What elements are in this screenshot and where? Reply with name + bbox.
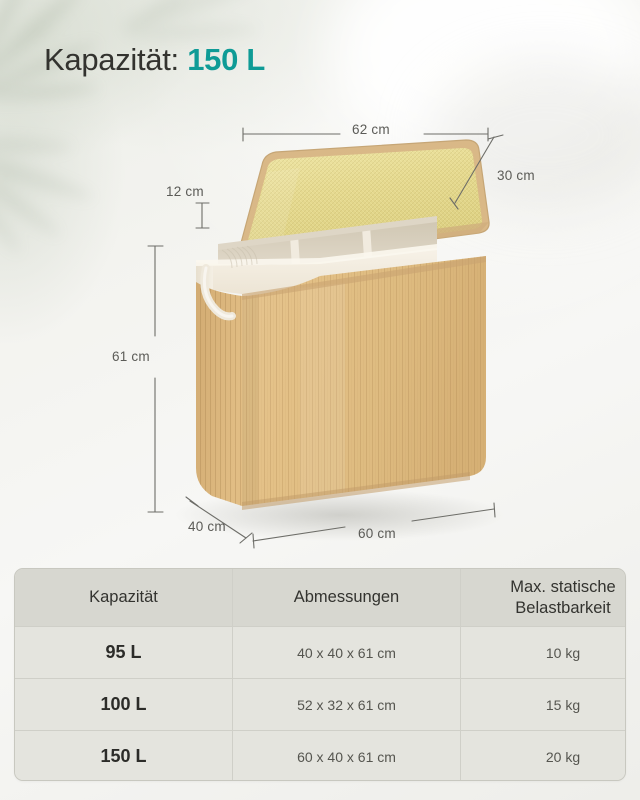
dimension-label-body-depth: 40 cm xyxy=(188,519,226,534)
cell-dimensions: 40 x 40 x 61 cm xyxy=(233,627,461,679)
dimension-label-body-height: 61 cm xyxy=(112,349,150,364)
dimension-label-body-width: 60 cm xyxy=(358,526,396,541)
hamper-lid xyxy=(238,140,489,263)
background-soft-shade xyxy=(430,60,640,210)
table-row: 150 L 60 x 40 x 61 cm 20 kg xyxy=(15,731,626,782)
page-title-capacity: 150 L xyxy=(187,42,265,77)
column-header-dimensions: Abmessungen xyxy=(233,569,461,627)
palm-frond-shadow-secondary-icon xyxy=(0,60,190,270)
hamper-body xyxy=(196,256,486,510)
column-header-capacity: Kapazität xyxy=(15,569,233,627)
column-header-max-load: Max. statische Belastbarkeit xyxy=(461,569,627,627)
dimension-label-lid-width: 62 cm xyxy=(352,122,390,137)
palm-frond-shadow-icon xyxy=(0,0,220,200)
table-row: 100 L 52 x 32 x 61 cm 15 kg xyxy=(15,679,626,731)
page-title: Kapazität: 150 L xyxy=(44,42,265,78)
cell-dimensions: 60 x 40 x 61 cm xyxy=(233,731,461,782)
cell-capacity: 150 L xyxy=(15,731,233,782)
cell-capacity: 100 L xyxy=(15,679,233,731)
cell-max-load: 20 kg xyxy=(461,731,627,782)
cell-capacity: 95 L xyxy=(15,627,233,679)
column-header-max-load-line1: Max. statische xyxy=(467,577,626,598)
infographic-page: Kapazität: 150 L xyxy=(0,0,640,800)
cell-max-load: 10 kg xyxy=(461,627,627,679)
column-header-max-load-line2: Belastbarkeit xyxy=(467,598,626,619)
product-illustration xyxy=(0,0,640,560)
table-row: 95 L 40 x 40 x 61 cm 10 kg xyxy=(15,627,626,679)
cell-max-load: 15 kg xyxy=(461,679,627,731)
hamper-liner xyxy=(196,216,437,296)
rope-handle-icon xyxy=(204,268,232,316)
dimension-label-lid-height: 12 cm xyxy=(166,184,204,199)
page-title-lead: Kapazität: xyxy=(44,42,179,77)
cell-dimensions: 52 x 32 x 61 cm xyxy=(233,679,461,731)
specification-table: Kapazität Abmessungen Max. statische Bel… xyxy=(14,568,626,781)
table-header-row: Kapazität Abmessungen Max. statische Bel… xyxy=(15,569,626,627)
dimension-label-lid-depth: 30 cm xyxy=(497,168,535,183)
